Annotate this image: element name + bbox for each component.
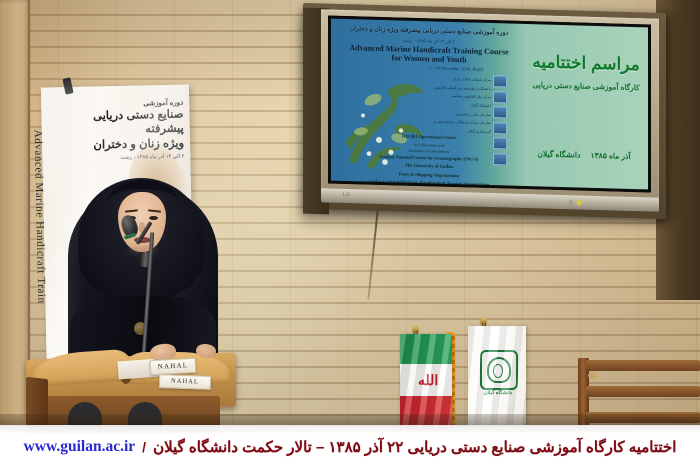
organization-logo-icon — [493, 106, 507, 118]
caption-bar: اختتامیه کارگاه آموزشی صنایع دستی دریایی… — [0, 425, 700, 467]
organization-logo-icon — [493, 91, 507, 103]
slide-organizer-list: مرکز عملیاتی IOI در ایران با همکاری مؤسس… — [431, 74, 491, 136]
caption-website-url[interactable]: www.guilan.ac.ir — [24, 438, 136, 456]
chair-rail — [586, 360, 700, 371]
organization-logo-icon — [493, 122, 507, 134]
slide-left-pane: دوره آموزشی صنایع دستی دریایی پیشرفته وی… — [331, 19, 527, 186]
presentation-screen: دوره آموزشی صنایع دستی دریایی پیشرفته وی… — [331, 19, 648, 190]
flag-fabric-folds — [468, 326, 526, 426]
chair-knob — [588, 372, 597, 379]
display-power-led-off — [569, 200, 573, 204]
speaker-eye-right — [149, 216, 158, 220]
name-card-secondary: NAHAL — [159, 374, 211, 390]
display-power-led — [577, 200, 581, 204]
ceremony-date: آذر ماه ۱۳۸۵ — [591, 151, 631, 161]
name-card-primary: NAHAL — [150, 358, 197, 375]
ceremony-subtitle: کارگاه آموزشی صنایع دستی دریایی — [527, 80, 645, 92]
ceremony-title: مراسم اختتامیه — [527, 52, 645, 75]
organization-logo-icon — [493, 75, 507, 87]
caption-separator: / — [142, 439, 146, 455]
photograph-screenshot: دوره آموزشی صنایع دستی دریایی پیشرفته وی… — [0, 0, 700, 467]
display-brand-logo: LG — [343, 192, 351, 198]
ceremony-date-place: آذر ماه ۱۳۸۵ دانشگاه گیلان — [527, 149, 641, 161]
slide-footer-credits: IOI-IRI Operational Centre In Collaborat… — [337, 131, 521, 190]
chair-rail — [586, 386, 700, 397]
university-flag: دانشگاه گیلان — [468, 326, 526, 426]
slide-english-title: Advanced Marine Handicraft Training Cour… — [337, 43, 521, 67]
caption-persian-text: اختتامیه کارگاه آموزشی صنایع دستی دریایی… — [153, 438, 676, 456]
slide-right-pane: مراسم اختتامیه کارگاه آموزشی صنایع دستی … — [527, 24, 648, 189]
ceremony-place: دانشگاه گیلان — [537, 149, 580, 159]
speaker-veil-edge — [108, 180, 178, 223]
